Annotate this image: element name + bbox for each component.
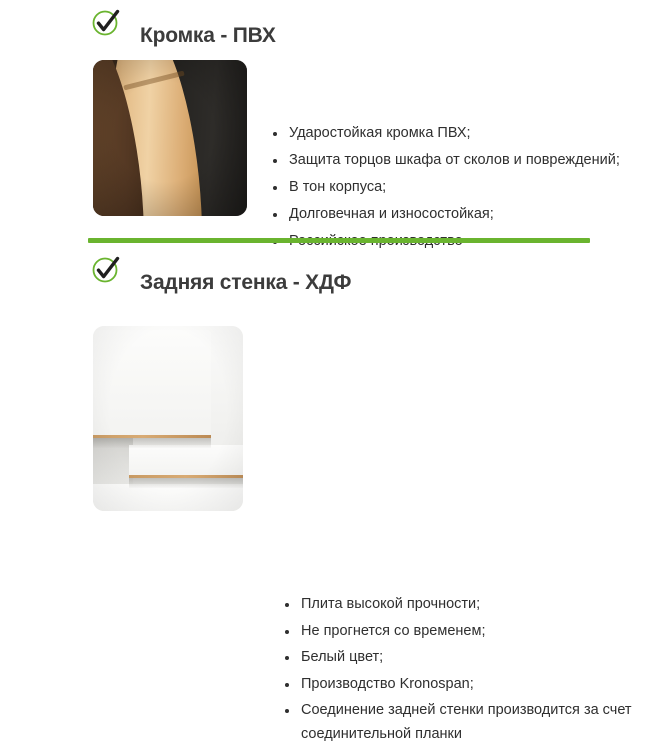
section-header-hdf: Задняя стенка - ХДФ [0, 247, 652, 293]
feature-section-hdf: Задняя стенка - ХДФ Плита высокой прочно… [0, 247, 652, 293]
list-item: Ударостойкая кромка ПВХ; [272, 122, 632, 146]
list-item: Долговечная и износостойкая; [272, 203, 632, 227]
list-item: В тон корпуса; [272, 176, 632, 200]
section-header-pvc: Кромка - ПВХ [0, 0, 652, 46]
list-item: Не прогнется со временем; [284, 620, 634, 644]
feature-list-hdf: Плита высокой прочности; Не прогнется со… [284, 593, 634, 749]
hdf-board-photo [93, 326, 243, 511]
list-item: Производство Kronospan; [284, 673, 634, 697]
check-circle-icon [90, 5, 124, 39]
section-title-pvc: Кромка - ПВХ [140, 19, 276, 53]
list-item: Соединение задней стенки производится за… [284, 699, 634, 746]
section-title-hdf: Задняя стенка - ХДФ [140, 266, 351, 300]
feature-list-pvc: Ударостойкая кромка ПВХ; Защита торцов ш… [272, 122, 632, 257]
section-divider [88, 238, 590, 243]
list-item: Защита торцов шкафа от сколов и поврежде… [272, 149, 632, 173]
list-item: Белый цвет; [284, 646, 634, 670]
list-item: Плита высокой прочности; [284, 593, 634, 617]
check-circle-icon [90, 252, 124, 286]
pvc-edge-banding-photo [93, 60, 247, 216]
feature-section-pvc: Кромка - ПВХ Ударостойкая кромка ПВХ; За… [0, 0, 652, 46]
